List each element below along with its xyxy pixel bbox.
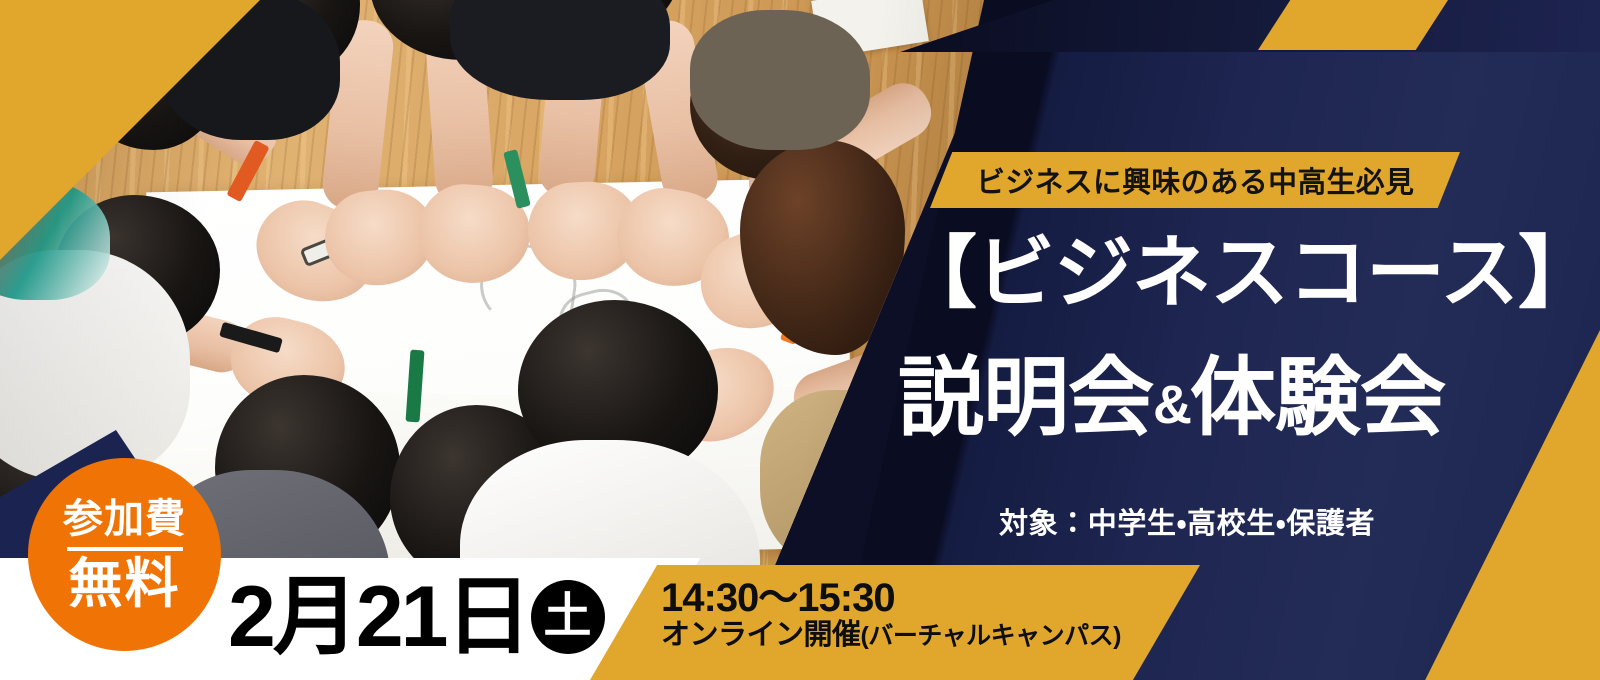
- event-banner: ビジネスに興味のある中高生必見 【ビジネスコース】 説明会&体験会 対象：中学生…: [0, 0, 1600, 680]
- kicker-text: ビジネスに興味のある中高生必見: [976, 159, 1414, 201]
- event-place: オンライン開催(バーチャルキャンパス): [661, 619, 1121, 652]
- fee-badge: 参加費 無料: [28, 458, 221, 651]
- fee-label: 参加費: [63, 499, 186, 539]
- page-title-line2: 説明会&体験会: [898, 355, 1558, 441]
- page-title-line1: 【ビジネスコース】: [898, 233, 1558, 312]
- event-date: 2月21日 土: [228, 563, 605, 671]
- event-time: 14:30〜15:30: [661, 577, 1121, 619]
- gold-top-parallelogram: [1258, 0, 1448, 50]
- title-segment-setsumeikai: 説明会: [898, 350, 1153, 446]
- target-audience-text: 対象：中学生・高校生・保護者: [999, 500, 1375, 542]
- fee-value: 無料: [69, 557, 181, 611]
- title-ampersand: &: [1153, 375, 1190, 435]
- event-place-text: オンライン開催: [661, 619, 861, 651]
- kicker-banner: ビジネスに興味のある中高生必見: [930, 152, 1460, 208]
- title-segment-taikenkai: 体験会: [1190, 350, 1445, 446]
- event-details: 14:30〜15:30 オンライン開催(バーチャルキャンパス): [661, 577, 1121, 652]
- event-place-note: (バーチャルキャンパス): [861, 622, 1121, 650]
- weekday-badge: 土: [531, 580, 605, 654]
- fee-divider: [67, 547, 183, 551]
- event-date-text: 2月21日: [228, 574, 529, 660]
